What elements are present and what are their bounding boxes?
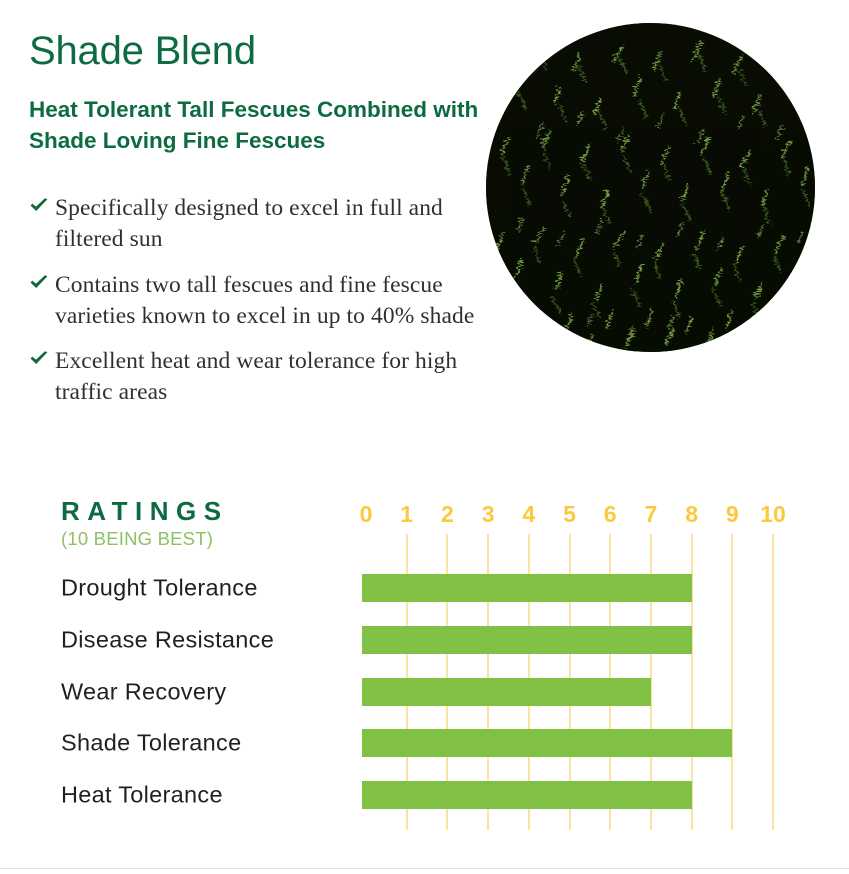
list-item-text: Specifically designed to excel in full a… (55, 193, 484, 256)
axis-tick-label-0: 0 (360, 503, 373, 526)
axis-tick-label-2: 2 (441, 503, 454, 526)
checkmark-icon (29, 346, 55, 367)
axis-tick-label-3: 3 (482, 503, 495, 526)
bar-label-heat-tolerance: Heat Tolerance (61, 783, 223, 807)
bar-label-drought-tolerance: Drought Tolerance (61, 576, 258, 600)
axis-tick-label-4: 4 (522, 503, 535, 526)
product-image (486, 23, 815, 352)
checkmark-icon (29, 270, 55, 291)
feature-list: Specifically designed to excel in full a… (29, 193, 484, 423)
axis-tick-label-8: 8 (685, 503, 698, 526)
axis-tick-label-1: 1 (400, 503, 413, 526)
bar-heat-tolerance (362, 781, 692, 809)
bar-label-shade-tolerance: Shade Tolerance (61, 732, 241, 756)
bar-disease-resistance (362, 626, 692, 654)
axis-tick-label-5: 5 (563, 503, 576, 526)
bar-shade-tolerance (362, 729, 732, 757)
gridline-10 (772, 534, 774, 830)
axis-tick-label-10: 10 (760, 503, 786, 526)
axis-tick-label-6: 6 (604, 503, 617, 526)
page-title: Shade Blend (29, 31, 256, 71)
ratings-section: RATINGS (10 BEING BEST) 012345678910Drou… (0, 492, 849, 837)
list-item-text: Contains two tall fescues and fine fescu… (55, 270, 484, 333)
bar-wear-recovery (362, 678, 651, 706)
bottom-divider (0, 868, 849, 869)
checkmark-icon (29, 193, 55, 214)
list-item: Contains two tall fescues and fine fescu… (29, 270, 484, 333)
bar-label-wear-recovery: Wear Recovery (61, 680, 226, 704)
bar-label-disease-resistance: Disease Resistance (61, 628, 274, 652)
bar-drought-tolerance (362, 574, 692, 602)
list-item-text: Excellent heat and wear tolerance for hi… (55, 346, 484, 409)
list-item: Excellent heat and wear tolerance for hi… (29, 346, 484, 409)
ratings-bar-chart: 012345678910Drought ToleranceDisease Res… (0, 492, 849, 837)
page-subtitle: Heat Tolerant Tall Fescues Combined with… (29, 94, 481, 156)
axis-tick-label-9: 9 (726, 503, 739, 526)
axis-tick-label-7: 7 (644, 503, 657, 526)
gridline-9 (731, 534, 733, 830)
list-item: Specifically designed to excel in full a… (29, 193, 484, 256)
